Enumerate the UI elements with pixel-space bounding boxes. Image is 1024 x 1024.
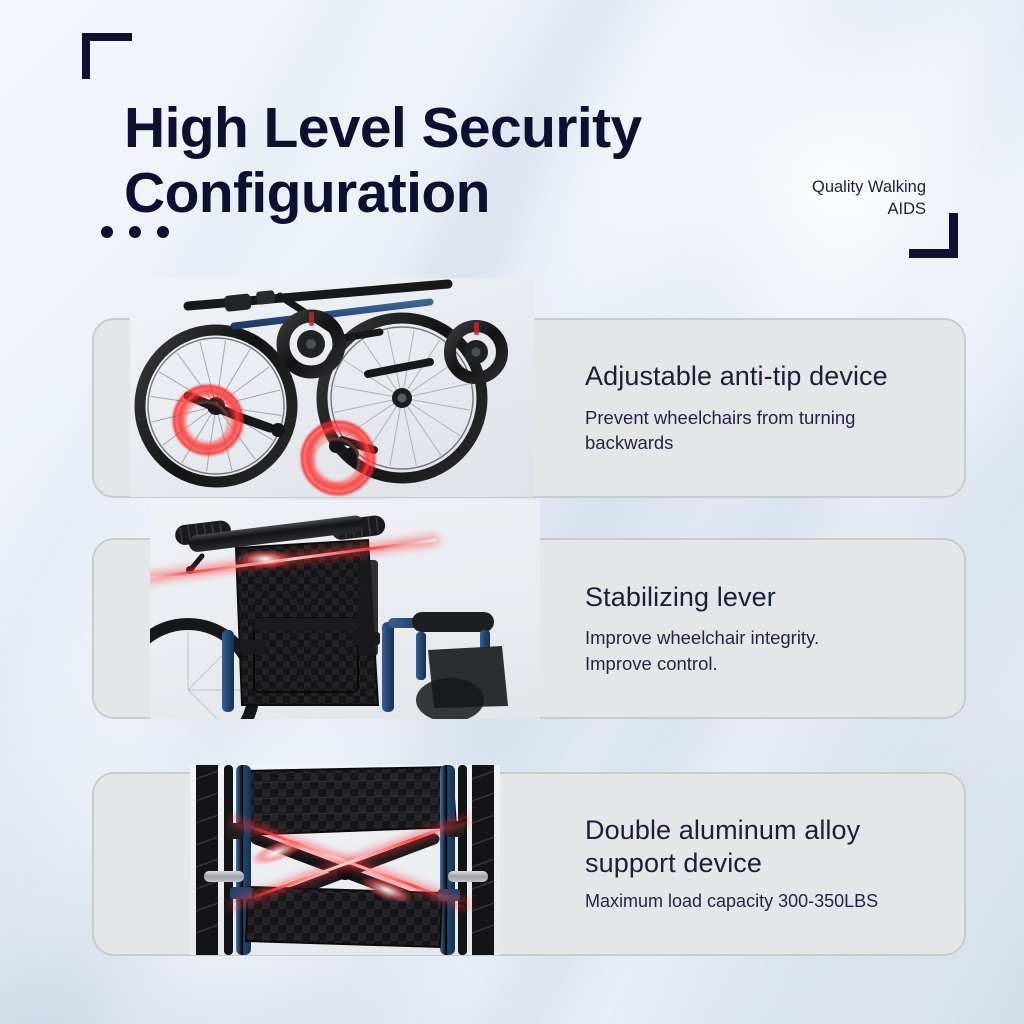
corner-bracket-top-left-icon [82,33,132,79]
brand-line-1: Quality Walking [746,176,926,198]
feature-card-text: Adjustable anti-tip device Prevent wheel… [585,320,936,496]
dot-1 [101,226,113,238]
product-photo-anti-tip [130,278,534,497]
product-photo-stabilizing-lever [150,500,540,719]
brand-tagline: Quality Walking AIDS [746,176,926,220]
corner-bracket-bottom-right-icon [909,213,958,258]
wheelchair-backrest-illustration [150,500,540,719]
page-title: High Level Security Configuration [124,96,824,226]
feature-card-title: Stabilizing lever [585,581,936,614]
feature-card-description: Maximum load capacity 300-350LBS [585,889,936,914]
feature-card-text: Double aluminum alloy support device Max… [585,774,936,954]
decorative-dots [101,226,169,238]
dot-2 [129,226,141,238]
laser-highlight-glow [238,550,292,568]
wheelchair-rear-wheels-illustration [130,278,534,497]
brand-line-2: AIDS [746,198,926,220]
feature-card-title: Adjustable anti-tip device [585,360,936,393]
feature-card-title: Double aluminum alloy support device [585,814,936,880]
feature-card-description: Improve wheelchair integrity. Improve co… [585,625,936,676]
feature-card-description: Prevent wheelchairs from turning backwar… [585,405,936,456]
poster-canvas: High Level Security Configuration Qualit… [0,0,1024,1024]
product-photo-support-device [190,765,500,955]
feature-card-text: Stabilizing lever Improve wheelchair int… [585,540,936,717]
dot-3 [157,226,169,238]
